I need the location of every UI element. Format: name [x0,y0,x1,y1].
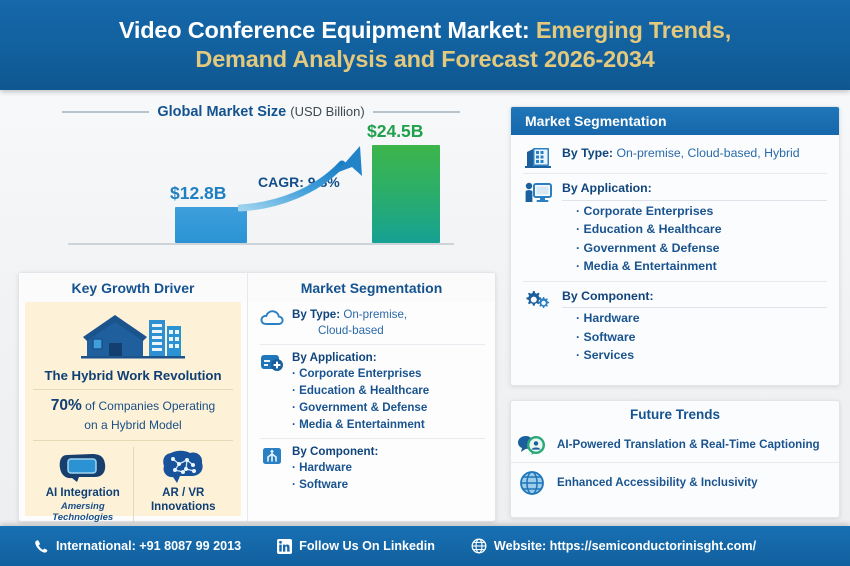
bar-label-2034: $24.5B [367,121,423,142]
seg-mid-by-application-key: By Application: [292,351,377,364]
header-title-block: Video Conference Equipment Market: Emerg… [89,16,761,73]
seg-right-by-type-key: By Type: [562,146,613,160]
seg-right-by-type-text: By Type: On-premise, Cloud-based, Hybrid [562,145,827,163]
seg-mid-row-by-component[interactable]: By Component: Hardware Software [260,438,485,498]
seg-right-row-by-component[interactable]: By Component: Hardware Software Services [523,281,827,370]
chart-plot-area: $12.8B $24.5B CAGR: 9.8% [62,126,460,254]
key-growth-driver-title: The Hybrid Work Revolution [33,368,233,390]
global-market-size-chart: Global Market Size (USD Billion) $12.8B … [62,100,460,262]
seg-right-by-type-value: On-premise, Cloud-based, Hybrid [613,146,800,160]
duo-ai-integration: AI Integration Amersing Technologies [33,447,133,523]
key-growth-driver-body: The Hybrid Work Revolution 70% of Compan… [25,302,241,516]
seg-right-app-item-3: Media & Entertainment [576,257,827,275]
future-trend-item-0[interactable]: AI-Powered Translation & Real-Time Capti… [511,427,839,462]
seg-mid-app-item-3: Media & Entertainment [292,417,485,434]
title-main: Video Conference Equipment Market: [119,17,530,43]
seg-mid-row-by-application[interactable]: By Application: Corporate Enterprises Ed… [260,344,485,438]
brain-network-icon [134,447,234,487]
footer-linkedin-label: Follow Us On Linkedin [299,539,435,553]
add-user-icon [260,350,284,372]
seg-mid-by-type-value1: On-premise, [340,308,407,321]
key-growth-and-segmentation-card: Key Growth Driver [18,272,496,522]
chart-rule-left [62,111,149,113]
future-trends-panel: Future Trends AI-Powered Translation & R… [510,400,840,518]
segmentation-mid-body: By Type: On-premise, Cloud-based [248,302,495,498]
seg-mid-by-component-key: By Component: [292,445,378,458]
globe-icon [517,469,547,496]
footer-phone-label: International: +91 8087 99 2013 [56,539,241,553]
seg-right-comp-item-2: Services [576,346,827,364]
linkedin-icon [277,539,292,554]
seg-right-row-by-application[interactable]: By Application: Corporate Enterprises Ed… [523,173,827,281]
infographic-root: Video Conference Equipment Market: Emerg… [0,0,850,566]
seg-right-by-application-text: By Application: [562,180,827,201]
stat-percentage: 70% [51,397,82,414]
house-building-icon [33,308,233,364]
seg-right-by-component-text: By Component: [562,288,827,309]
footer-phone[interactable]: International: +91 8087 99 2013 [34,539,241,554]
key-growth-driver-duo: AI Integration Amersing Technologies [33,447,233,523]
seg-mid-app-item-2: Government & Defense [292,400,485,417]
seg-right-row-by-type[interactable]: By Type: On-premise, Cloud-based, Hybrid [523,139,827,173]
growth-arrow-icon [238,140,388,212]
duo-ai-label: AI Integration [33,487,133,501]
bar-2025 [175,207,247,243]
future-trend-label-0: AI-Powered Translation & Real-Time Capti… [557,438,820,451]
seg-mid-app-item-0: Corporate Enterprises [292,366,485,383]
seg-mid-by-component-block: By Component: Hardware Software [292,444,485,494]
chart-rule-right [373,111,460,113]
gears-icon [523,288,553,311]
header-banner: Video Conference Equipment Market: Emerg… [0,0,850,90]
person-monitor-icon [523,180,553,205]
building-icon [523,145,553,168]
segmentation-mid-heading: Market Segmentation [248,273,495,302]
seg-right-by-application-key: By Application: [562,181,652,195]
future-trend-label-1: Enhanced Accessibility & Inclusivity [557,476,758,489]
chart-baseline [68,243,454,245]
seg-mid-by-application-block: By Application: Corporate Enterprises Ed… [292,350,485,434]
duo-arvr-line1: AR / VR [162,487,204,499]
seg-right-comp-item-1: Software [576,328,827,346]
seg-mid-app-item-1: Education & Healthcare [292,383,485,400]
seg-mid-row-by-type[interactable]: By Type: On-premise, Cloud-based [260,302,485,344]
segmentation-right-heading: Market Segmentation [511,107,839,135]
bar-label-2025: $12.8B [170,183,226,204]
seg-mid-comp-item-1: Software [292,477,485,494]
future-trend-item-1[interactable]: Enhanced Accessibility & Inclusivity [511,462,839,502]
segmentation-right-body: By Type: On-premise, Cloud-based, Hybrid… [511,135,839,376]
chart-title-units: (USD Billion) [290,104,364,119]
title-line-1: Video Conference Equipment Market: Emerg… [119,16,731,45]
seg-right-by-component-key: By Component: [562,289,654,303]
chat-bubbles-icon [517,433,547,456]
phone-icon [34,539,49,554]
key-growth-driver-stat: 70% of Companies Operating on a Hybrid M… [33,390,233,441]
chart-title: Global Market Size (USD Billion) [157,104,364,120]
seg-mid-by-application-text: By Application: [292,350,485,366]
segmentation-mid-panel: Market Segmentation By Type: On-premise,… [247,273,495,521]
seg-right-component-list: Hardware Software Services [562,309,827,364]
segmentation-right-panel: Market Segmentation [510,106,840,386]
seg-right-app-item-1: Education & Healthcare [576,220,827,238]
footer-bar: International: +91 8087 99 2013 Follow U… [0,526,850,566]
seg-mid-comp-item-0: Hardware [292,460,485,477]
seg-mid-by-type-value2: Cloud-based [292,324,384,337]
key-growth-driver-panel: Key Growth Driver [19,273,247,521]
duo-arvr-line2: Innovations [151,501,216,513]
future-trends-heading: Future Trends [511,401,839,427]
seg-right-app-item-0: Corporate Enterprises [576,202,827,220]
duo-arvr-label: AR / VRInnovations [134,487,234,515]
cloud-icon [260,307,284,326]
chart-header: Global Market Size (USD Billion) [62,100,460,120]
seg-right-app-item-2: Government & Defense [576,239,827,257]
key-growth-driver-heading: Key Growth Driver [19,273,247,302]
seg-mid-by-type-key: By Type: [292,308,340,321]
globe-icon [471,538,487,554]
stat-text-line2: on a Hybrid Model [84,418,181,432]
stat-text-line1: of Companies Operating [82,399,215,413]
chart-title-text: Global Market Size [157,104,286,120]
seg-mid-by-type-text: By Type: On-premise, Cloud-based [292,307,485,340]
seg-right-by-component-block: By Component: Hardware Software Services [562,288,827,365]
duo-ai-sublabel: Amersing Technologies [33,501,133,523]
seg-right-comp-item-0: Hardware [576,309,827,327]
seg-mid-by-component-text: By Component: [292,444,485,460]
footer-website[interactable]: Website: https://semiconductorinisght.co… [471,538,756,554]
vr-headset-icon [33,447,133,487]
footer-linkedin[interactable]: Follow Us On Linkedin [277,539,435,554]
title-line-2: Demand Analysis and Forecast 2026-2034 [119,45,731,74]
duo-ar-vr-innovations: AR / VRInnovations [133,447,234,523]
title-accent-1: Emerging Trends, [530,17,732,43]
footer-website-label: Website: https://semiconductorinisght.co… [494,539,756,553]
component-icon [260,444,284,466]
seg-right-application-list: Corporate Enterprises Education & Health… [562,202,827,276]
seg-right-by-application-block: By Application: Corporate Enterprises Ed… [562,180,827,276]
